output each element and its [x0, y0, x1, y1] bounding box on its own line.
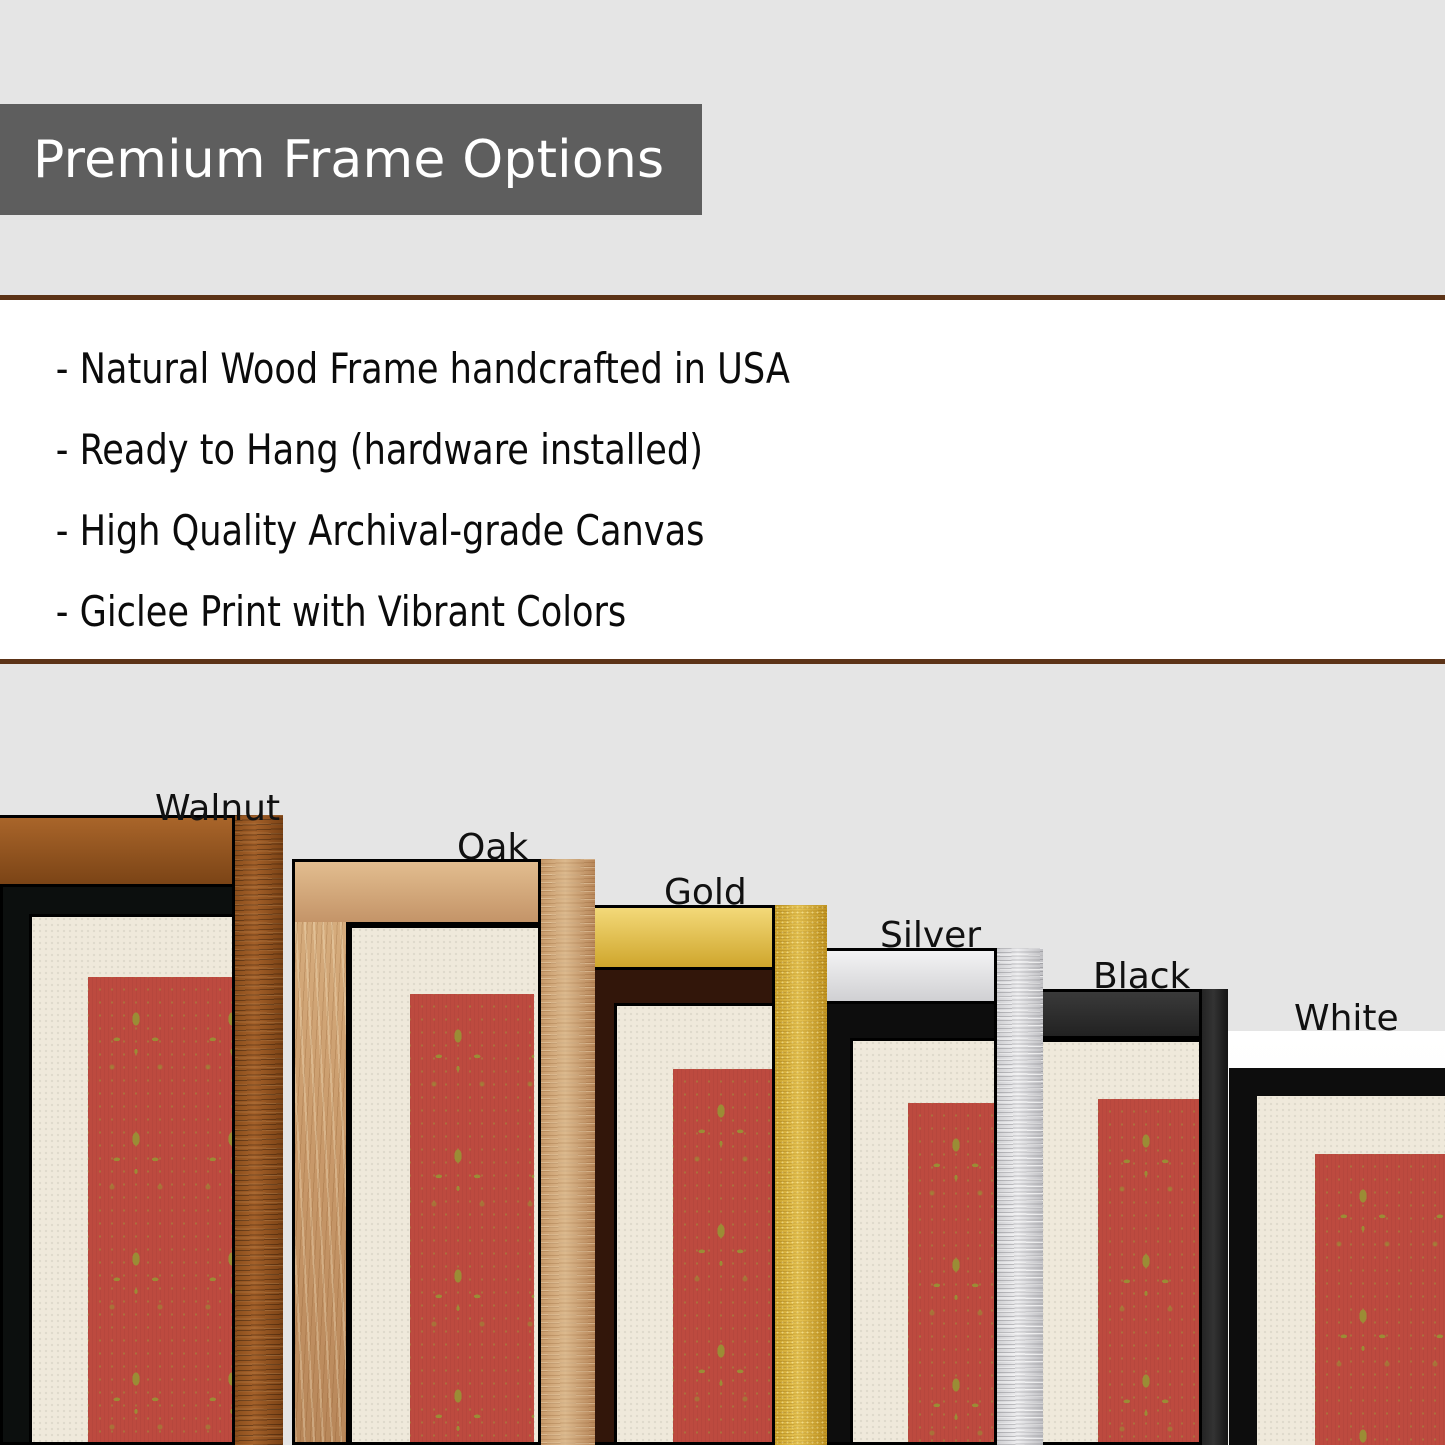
frame-label-black: Black — [1093, 956, 1190, 997]
frame-liner-oak — [346, 922, 541, 1445]
frame-rail-oak — [541, 859, 595, 1445]
frame-label-walnut: Walnut — [155, 788, 280, 829]
frame-face-oak — [292, 859, 541, 1445]
artwork-oak — [410, 994, 534, 1445]
feature-panel: - Natural Wood Frame handcrafted in USA … — [0, 295, 1445, 664]
frame-liner-walnut — [0, 884, 235, 1445]
frame-liner-silver — [816, 1001, 997, 1445]
frame-liner-black — [1035, 1036, 1202, 1445]
artwork-black — [1098, 1099, 1202, 1445]
frame-liner-white — [1229, 1068, 1445, 1445]
frame-top-bevel-oak — [295, 862, 538, 922]
frame-label-gold: Gold — [664, 872, 747, 913]
frame-label-oak: Oak — [457, 827, 528, 868]
frame-liner-gold — [582, 967, 775, 1445]
canvas-border-silver — [850, 1038, 997, 1445]
frame-showcase: White Black Silver — [0, 664, 1445, 1445]
frame-face-white — [1192, 1031, 1445, 1445]
feature-item: - Ready to Hang (hardware installed) — [0, 409, 1344, 490]
artwork-gold — [673, 1069, 775, 1445]
page-title: Premium Frame Options — [0, 130, 664, 190]
header-region: Premium Frame Options — [0, 0, 1445, 295]
artwork-walnut — [88, 977, 235, 1445]
frame-label-silver: Silver — [880, 915, 981, 956]
frame-rail-black — [1202, 989, 1228, 1445]
canvas-border-black — [1038, 1039, 1202, 1445]
canvas-border-oak — [349, 925, 541, 1445]
title-banner: Premium Frame Options — [0, 104, 702, 215]
canvas-border-gold — [614, 1003, 775, 1445]
feature-item: - Giclee Print with Vibrant Colors — [0, 571, 1344, 652]
frame-label-white: White — [1294, 998, 1399, 1039]
frame-rail-walnut — [235, 815, 283, 1445]
frame-face-walnut — [0, 815, 235, 1445]
canvas-border-white — [1257, 1096, 1445, 1445]
feature-item: - High Quality Archival-grade Canvas — [0, 490, 1344, 571]
feature-list: - Natural Wood Frame handcrafted in USA … — [0, 328, 1445, 652]
feature-item: - Natural Wood Frame handcrafted in USA — [0, 328, 1344, 409]
canvas-border-walnut — [29, 914, 235, 1445]
artwork-silver — [908, 1103, 997, 1445]
frame-rail-silver — [997, 948, 1043, 1445]
frame-rail-gold — [775, 905, 827, 1445]
artwork-white — [1315, 1154, 1445, 1445]
